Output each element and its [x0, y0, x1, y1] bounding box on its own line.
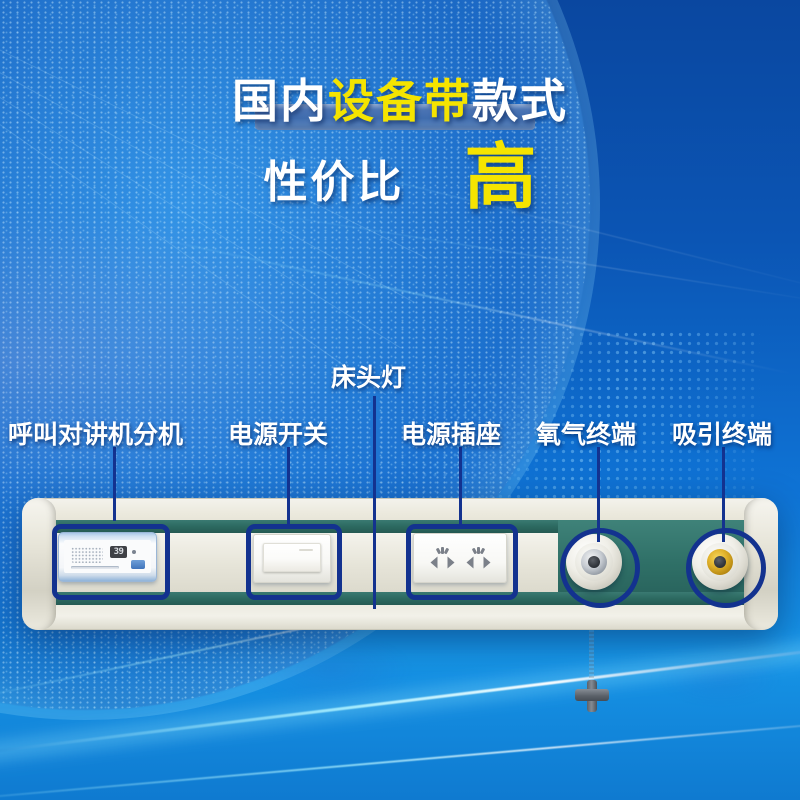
headline-text-2: 性价比 [263, 146, 404, 210]
headline-accent-2: 高 [464, 146, 536, 211]
headline-text-1a: 国内 [232, 75, 328, 127]
callout-label-power-socket: 电源插座 [401, 415, 501, 451]
leader-line-intercom [113, 447, 116, 521]
callout-label-power-switch: 电源开关 [228, 415, 328, 451]
callout-label-intercom: 呼叫对讲机分机 [8, 415, 183, 451]
highlight-box-power-switch [246, 524, 342, 600]
leader-line-bed-lamp [373, 396, 376, 609]
hose-cross-fitting-icon [575, 680, 609, 712]
headline-block: 国内设备带款式 性价比 高 [0, 78, 800, 211]
leader-line-power-switch [287, 447, 290, 525]
headline-accent-1: 设备带 [328, 75, 472, 127]
highlight-box-intercom [52, 524, 170, 600]
leader-line-power-socket [459, 447, 462, 525]
fitting-horizontal [575, 689, 609, 701]
panel-end-cap-left [22, 498, 56, 630]
highlight-circle-suction [686, 528, 766, 608]
callout-label-oxygen: 氧气终端 [536, 415, 636, 451]
headline-line-1: 国内设备带款式 [0, 78, 800, 124]
headline-line-2: 性价比 高 [0, 146, 800, 211]
highlight-circle-oxygen [560, 528, 640, 608]
highlight-box-power-socket [406, 524, 518, 600]
headline-text-1b: 款式 [472, 75, 568, 127]
callout-label-bed-lamp: 床头灯 [331, 358, 406, 394]
promo-banner: 国内设备带款式 性价比 高 呼叫对讲机分机 电源开关 床头灯 电源插座 氧气终端… [0, 0, 800, 800]
callout-label-suction: 吸引终端 [672, 415, 772, 451]
